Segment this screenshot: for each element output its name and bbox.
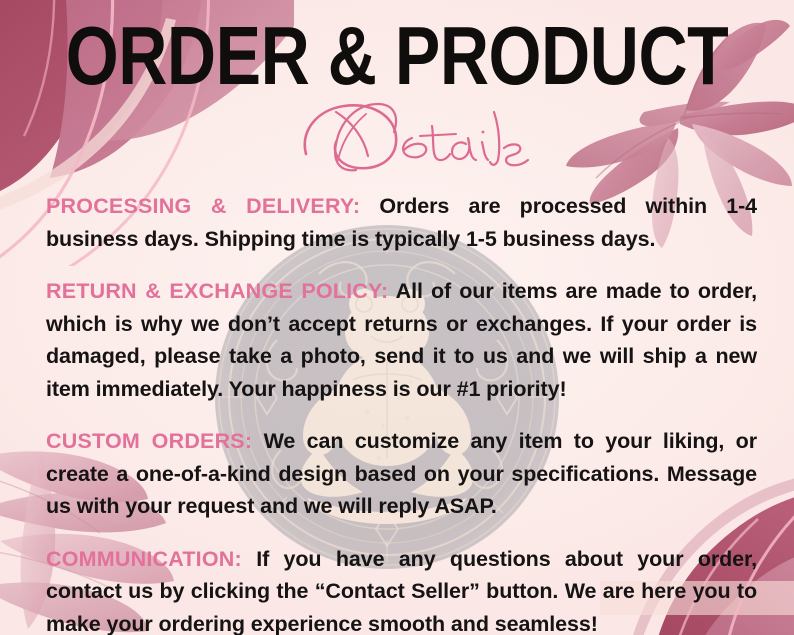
details-script-word (0, 92, 794, 172)
section-lead-return-exchange-policy: RETURN & EXCHANGE POLICY: (46, 279, 388, 303)
page-title: ORDER & PRODUCT (32, 0, 762, 97)
section-lead-custom-orders: CUSTOM ORDERS: (46, 429, 252, 453)
section-lead-processing-delivery: PROCESSING & DELIVERY: (46, 194, 360, 218)
section-processing-delivery: PROCESSING & DELIVERY: Orders are proces… (46, 190, 757, 255)
section-custom-orders: CUSTOM ORDERS: We can customize any item… (46, 425, 757, 523)
section-return-exchange-policy: RETURN & EXCHANGE POLICY: All of our ite… (46, 275, 757, 405)
order-and-product-details-card: ORDER & PRODUCT (0, 0, 794, 635)
policy-sections: PROCESSING & DELIVERY: Orders are proces… (46, 190, 757, 635)
section-lead-communication: COMMUNICATION: (46, 547, 242, 571)
header: ORDER & PRODUCT (0, 0, 794, 87)
section-communication: COMMUNICATION: If you have any questions… (46, 543, 757, 635)
